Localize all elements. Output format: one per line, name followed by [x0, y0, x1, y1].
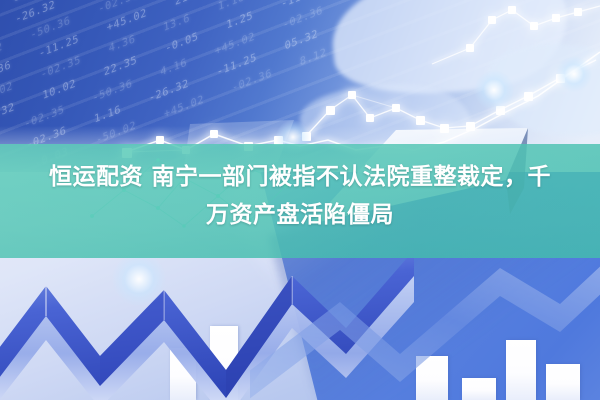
secondary-ribbon-face	[250, 258, 600, 400]
news-banner: -50.02-26.32-02.36-11.25+45.0221.658.12 …	[0, 0, 600, 400]
headline: 恒运配资 南宁一部门被指不认法院重整裁定，千 万资产盘活陷僵局	[0, 158, 600, 234]
headline-line-1: 恒运配资 南宁一部门被指不认法院重整裁定，千	[14, 158, 586, 196]
zigzag-ribbon-arrow-secondary	[250, 258, 600, 400]
headline-line-2: 万资产盘活陷僵局	[14, 196, 586, 234]
